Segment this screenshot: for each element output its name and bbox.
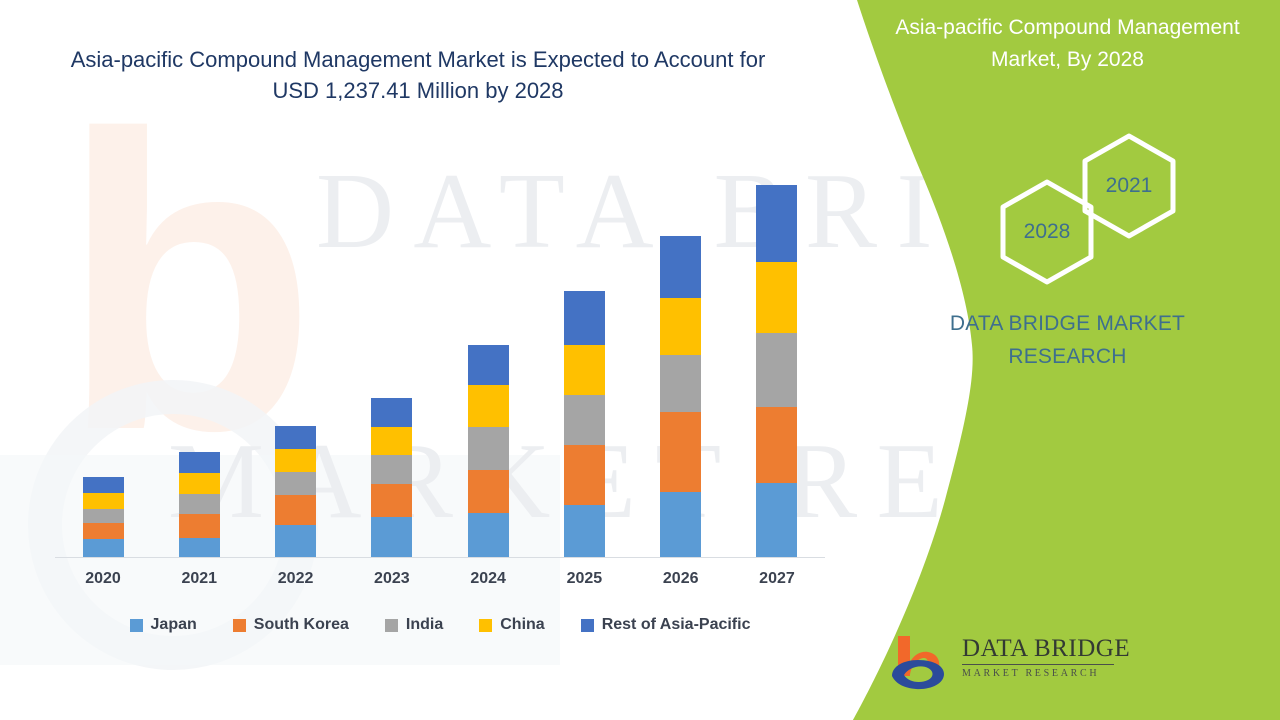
bar-slot xyxy=(440,170,536,557)
bar-segment[interactable] xyxy=(275,426,316,449)
panel-title: Asia-pacific Compound Management Market,… xyxy=(855,12,1280,75)
bar-segment[interactable] xyxy=(660,355,701,412)
bar-segment[interactable] xyxy=(564,291,605,345)
bar-segment[interactable] xyxy=(756,407,797,483)
bar-segment[interactable] xyxy=(660,236,701,298)
bar-segment[interactable] xyxy=(275,472,316,495)
stacked-bar[interactable] xyxy=(83,477,124,557)
stacked-bar[interactable] xyxy=(371,398,412,557)
stacked-bar[interactable] xyxy=(468,345,509,557)
x-axis-tick: 2026 xyxy=(633,570,729,588)
legend-label: India xyxy=(406,616,443,634)
bar-segment[interactable] xyxy=(83,493,124,509)
legend-swatch-icon xyxy=(233,619,246,632)
bar-segment[interactable] xyxy=(756,262,797,333)
stacked-bar[interactable] xyxy=(564,291,605,557)
x-axis-tick: 2027 xyxy=(729,570,825,588)
bar-segment[interactable] xyxy=(468,385,509,427)
legend-item[interactable]: Japan xyxy=(130,616,197,634)
bar-segment[interactable] xyxy=(564,395,605,445)
bar-segment[interactable] xyxy=(275,495,316,525)
bar-segment[interactable] xyxy=(179,473,220,494)
chart-plot-area xyxy=(55,170,825,558)
hexagon-2021: 2021 xyxy=(1081,132,1177,240)
chart-legend: JapanSouth KoreaIndiaChinaRest of Asia-P… xyxy=(55,616,825,634)
bar-segment[interactable] xyxy=(179,514,220,538)
stacked-bar-chart xyxy=(55,170,825,560)
brand-name: DATA BRIDGE MARKET RESEARCH xyxy=(885,308,1250,373)
databridge-logo-title: DATA BRIDGE xyxy=(962,636,1122,662)
legend-swatch-icon xyxy=(479,619,492,632)
databridge-b-icon xyxy=(888,632,954,694)
bar-segment[interactable] xyxy=(468,513,509,557)
bar-segment[interactable] xyxy=(468,345,509,385)
x-axis-tick: 2021 xyxy=(151,570,247,588)
bar-segment[interactable] xyxy=(371,455,412,484)
bar-segment[interactable] xyxy=(275,525,316,557)
bar-segment[interactable] xyxy=(660,412,701,492)
bar-segment[interactable] xyxy=(468,427,509,470)
hexagon-2028: 2028 xyxy=(999,178,1095,286)
bar-segment[interactable] xyxy=(756,185,797,262)
bar-segment[interactable] xyxy=(660,492,701,557)
hexagon-group: 2021 2028 xyxy=(995,148,1195,288)
chart-x-axis: 20202021202220232024202520262027 xyxy=(55,570,825,588)
bar-segment[interactable] xyxy=(83,539,124,557)
legend-item[interactable]: South Korea xyxy=(233,616,349,634)
infographic-root: b DATA BRIDGE MARKET RESEARCH Asia-pacif… xyxy=(0,0,1280,720)
legend-label: Rest of Asia-Pacific xyxy=(602,616,751,634)
x-axis-tick: 2023 xyxy=(344,570,440,588)
brand-name-line1: DATA BRIDGE MARKET xyxy=(885,308,1250,341)
legend-item[interactable]: India xyxy=(385,616,443,634)
bar-slot xyxy=(248,170,344,557)
bar-segment[interactable] xyxy=(83,509,124,523)
legend-label: South Korea xyxy=(254,616,349,634)
stacked-bar[interactable] xyxy=(275,426,316,557)
bar-segment[interactable] xyxy=(564,345,605,395)
bar-segment[interactable] xyxy=(564,505,605,557)
bar-segment[interactable] xyxy=(83,477,124,493)
hexagon-2021-label: 2021 xyxy=(1081,132,1177,240)
panel-content: Asia-pacific Compound Management Market,… xyxy=(855,0,1280,720)
bar-segment[interactable] xyxy=(371,517,412,557)
x-axis-tick: 2022 xyxy=(248,570,344,588)
legend-swatch-icon xyxy=(130,619,143,632)
databridge-logo-rule xyxy=(962,664,1114,665)
bar-segment[interactable] xyxy=(179,494,220,514)
bar-segment[interactable] xyxy=(468,470,509,513)
x-axis-tick: 2024 xyxy=(440,570,536,588)
bar-segment[interactable] xyxy=(371,427,412,455)
bar-slot xyxy=(151,170,247,557)
bar-segment[interactable] xyxy=(756,483,797,557)
bar-segment[interactable] xyxy=(371,484,412,517)
bar-slot xyxy=(633,170,729,557)
legend-label: China xyxy=(500,616,544,634)
bar-segment[interactable] xyxy=(564,445,605,505)
stacked-bar[interactable] xyxy=(179,452,220,557)
x-axis-tick: 2020 xyxy=(55,570,151,588)
legend-swatch-icon xyxy=(581,619,594,632)
bar-segment[interactable] xyxy=(756,333,797,407)
bar-segment[interactable] xyxy=(179,538,220,557)
hexagon-2028-label: 2028 xyxy=(999,178,1095,286)
bar-slot xyxy=(55,170,151,557)
databridge-logo-text: DATA BRIDGE MARKET RESEARCH xyxy=(962,636,1122,679)
bar-slot xyxy=(729,170,825,557)
bar-segment[interactable] xyxy=(275,449,316,472)
bar-segment[interactable] xyxy=(371,398,412,427)
legend-item[interactable]: China xyxy=(479,616,544,634)
stacked-bar[interactable] xyxy=(660,236,701,557)
bar-segment[interactable] xyxy=(83,523,124,539)
legend-swatch-icon xyxy=(385,619,398,632)
legend-label: Japan xyxy=(151,616,197,634)
bar-slot xyxy=(536,170,632,557)
bar-segment[interactable] xyxy=(660,298,701,355)
stacked-bar[interactable] xyxy=(756,185,797,557)
legend-item[interactable]: Rest of Asia-Pacific xyxy=(581,616,751,634)
bar-slot xyxy=(344,170,440,557)
databridge-logo-subtitle: MARKET RESEARCH xyxy=(962,668,1122,679)
brand-name-line2: RESEARCH xyxy=(885,341,1250,374)
page-title: Asia-pacific Compound Management Market … xyxy=(48,44,788,106)
databridge-logo: DATA BRIDGE MARKET RESEARCH xyxy=(888,632,1118,698)
bar-segment[interactable] xyxy=(179,452,220,473)
x-axis-tick: 2025 xyxy=(536,570,632,588)
